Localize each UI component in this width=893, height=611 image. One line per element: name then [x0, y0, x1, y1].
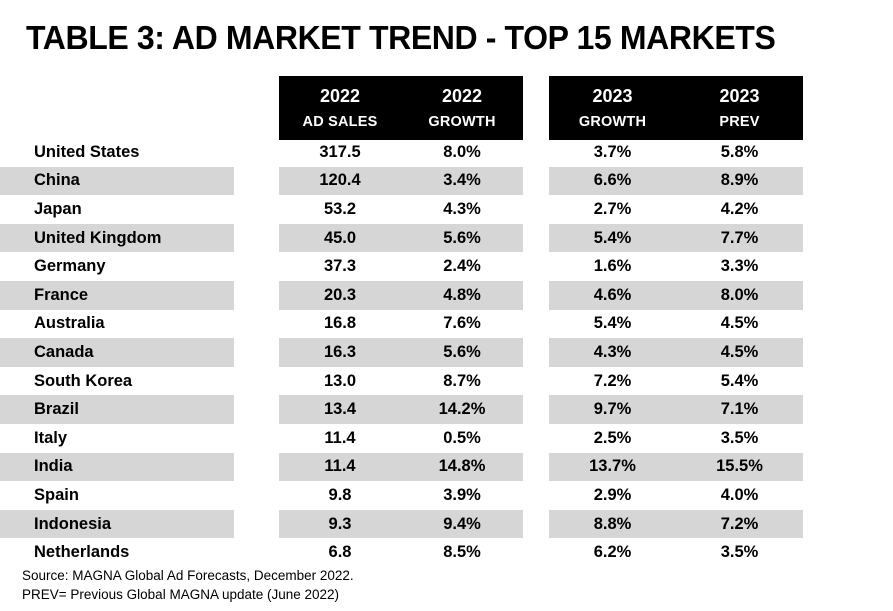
cell-prev-2023: 4.5% [676, 310, 803, 339]
cell-growth-2022: 3.4% [401, 167, 523, 196]
footnote-source: Source: MAGNA Global Ad Forecasts, Decem… [22, 566, 354, 585]
cell-growth-2023: 6.6% [549, 167, 676, 196]
table-row: Brazil13.414.2%9.7%7.1% [0, 395, 893, 424]
cell-prev-2023: 5.8% [676, 138, 803, 167]
cell-growth-2023: 6.2% [549, 538, 676, 567]
header-metric: AD SALES [303, 115, 378, 130]
footnote-prev-definition: PREV= Previous Global MAGNA update (June… [22, 585, 354, 604]
header-cell-2022-growth: 2022 GROWTH [401, 76, 523, 140]
cell-growth-2022: 0.5% [401, 424, 523, 453]
cell-ad-sales-2022: 9.8 [279, 481, 401, 510]
table-row: France20.34.8%4.6%8.0% [0, 281, 893, 310]
cell-prev-2023: 3.5% [676, 424, 803, 453]
header-year: 2022 [320, 87, 360, 105]
header-group-2023: 2023 GROWTH 2023 PREV [549, 76, 803, 140]
cell-country: Indonesia [34, 510, 234, 539]
cell-growth-2022: 8.0% [401, 138, 523, 167]
header-cell-2023-growth: 2023 GROWTH [549, 76, 676, 140]
cell-growth-2022: 9.4% [401, 510, 523, 539]
table-row: Japan53.24.3%2.7%4.2% [0, 195, 893, 224]
cell-country: India [34, 453, 234, 482]
cell-country: Canada [34, 338, 234, 367]
cell-ad-sales-2022: 11.4 [279, 424, 401, 453]
cell-country: Brazil [34, 395, 234, 424]
cell-growth-2023: 3.7% [549, 138, 676, 167]
cell-ad-sales-2022: 37.3 [279, 252, 401, 281]
cell-growth-2023: 8.8% [549, 510, 676, 539]
header-metric: GROWTH [579, 115, 646, 130]
cell-prev-2023: 8.9% [676, 167, 803, 196]
header-year: 2023 [719, 87, 759, 105]
cell-country: Australia [34, 310, 234, 339]
header-cell-2023-prev: 2023 PREV [676, 76, 803, 140]
table-row: South Korea13.08.7%7.2%5.4% [0, 367, 893, 396]
cell-country: Japan [34, 195, 234, 224]
cell-prev-2023: 8.0% [676, 281, 803, 310]
cell-country: Germany [34, 252, 234, 281]
cell-growth-2022: 8.7% [401, 367, 523, 396]
cell-country: Italy [34, 424, 234, 453]
cell-growth-2022: 5.6% [401, 224, 523, 253]
cell-growth-2022: 8.5% [401, 538, 523, 567]
cell-prev-2023: 7.1% [676, 395, 803, 424]
cell-country: France [34, 281, 234, 310]
cell-prev-2023: 7.2% [676, 510, 803, 539]
header-year: 2022 [442, 87, 482, 105]
cell-ad-sales-2022: 9.3 [279, 510, 401, 539]
footnotes: Source: MAGNA Global Ad Forecasts, Decem… [22, 566, 354, 604]
cell-ad-sales-2022: 45.0 [279, 224, 401, 253]
cell-prev-2023: 4.0% [676, 481, 803, 510]
cell-growth-2023: 1.6% [549, 252, 676, 281]
cell-prev-2023: 3.5% [676, 538, 803, 567]
table-row: United Kingdom45.05.6%5.4%7.7% [0, 224, 893, 253]
table-row: Indonesia9.39.4%8.8%7.2% [0, 510, 893, 539]
cell-growth-2023: 4.3% [549, 338, 676, 367]
cell-ad-sales-2022: 13.0 [279, 367, 401, 396]
cell-growth-2022: 7.6% [401, 310, 523, 339]
cell-ad-sales-2022: 317.5 [279, 138, 401, 167]
header-metric: PREV [719, 115, 759, 130]
cell-ad-sales-2022: 120.4 [279, 167, 401, 196]
header-cell-2022-ad-sales: 2022 AD SALES [279, 76, 401, 140]
cell-ad-sales-2022: 16.8 [279, 310, 401, 339]
cell-prev-2023: 3.3% [676, 252, 803, 281]
cell-growth-2023: 5.4% [549, 310, 676, 339]
cell-country: South Korea [34, 367, 234, 396]
header-group-2022: 2022 AD SALES 2022 GROWTH [279, 76, 523, 140]
cell-growth-2022: 14.8% [401, 453, 523, 482]
cell-country: United States [34, 138, 234, 167]
header-metric: GROWTH [428, 115, 495, 130]
cell-growth-2023: 7.2% [549, 367, 676, 396]
table-row: Germany37.32.4%1.6%3.3% [0, 252, 893, 281]
cell-ad-sales-2022: 13.4 [279, 395, 401, 424]
cell-ad-sales-2022: 6.8 [279, 538, 401, 567]
table-row: China120.43.4%6.6%8.9% [0, 167, 893, 196]
table-body: United States317.58.0%3.7%5.8%China120.4… [0, 138, 893, 567]
cell-ad-sales-2022: 16.3 [279, 338, 401, 367]
table-row: Netherlands6.88.5%6.2%3.5% [0, 538, 893, 567]
cell-prev-2023: 7.7% [676, 224, 803, 253]
cell-growth-2023: 4.6% [549, 281, 676, 310]
cell-country: Spain [34, 481, 234, 510]
cell-prev-2023: 15.5% [676, 453, 803, 482]
cell-ad-sales-2022: 11.4 [279, 453, 401, 482]
cell-country: United Kingdom [34, 224, 234, 253]
cell-ad-sales-2022: 20.3 [279, 281, 401, 310]
cell-ad-sales-2022: 53.2 [279, 195, 401, 224]
cell-growth-2023: 2.5% [549, 424, 676, 453]
cell-prev-2023: 5.4% [676, 367, 803, 396]
cell-growth-2022: 4.3% [401, 195, 523, 224]
page-title: TABLE 3: AD MARKET TREND - TOP 15 MARKET… [26, 18, 860, 58]
table-row: Canada16.35.6%4.3%4.5% [0, 338, 893, 367]
table-page: TABLE 3: AD MARKET TREND - TOP 15 MARKET… [0, 0, 893, 611]
table-row: India11.414.8%13.7%15.5% [0, 453, 893, 482]
header-year: 2023 [592, 87, 632, 105]
cell-country: Netherlands [34, 538, 234, 567]
cell-growth-2023: 5.4% [549, 224, 676, 253]
cell-growth-2023: 2.7% [549, 195, 676, 224]
table-row: Australia16.87.6%5.4%4.5% [0, 310, 893, 339]
table-row: United States317.58.0%3.7%5.8% [0, 138, 893, 167]
cell-growth-2022: 3.9% [401, 481, 523, 510]
cell-prev-2023: 4.2% [676, 195, 803, 224]
cell-growth-2023: 2.9% [549, 481, 676, 510]
cell-prev-2023: 4.5% [676, 338, 803, 367]
cell-growth-2022: 4.8% [401, 281, 523, 310]
table-row: Italy11.40.5%2.5%3.5% [0, 424, 893, 453]
cell-country: China [34, 167, 234, 196]
table-row: Spain9.83.9%2.9%4.0% [0, 481, 893, 510]
cell-growth-2023: 13.7% [549, 453, 676, 482]
cell-growth-2022: 14.2% [401, 395, 523, 424]
cell-growth-2023: 9.7% [549, 395, 676, 424]
cell-growth-2022: 2.4% [401, 252, 523, 281]
cell-growth-2022: 5.6% [401, 338, 523, 367]
